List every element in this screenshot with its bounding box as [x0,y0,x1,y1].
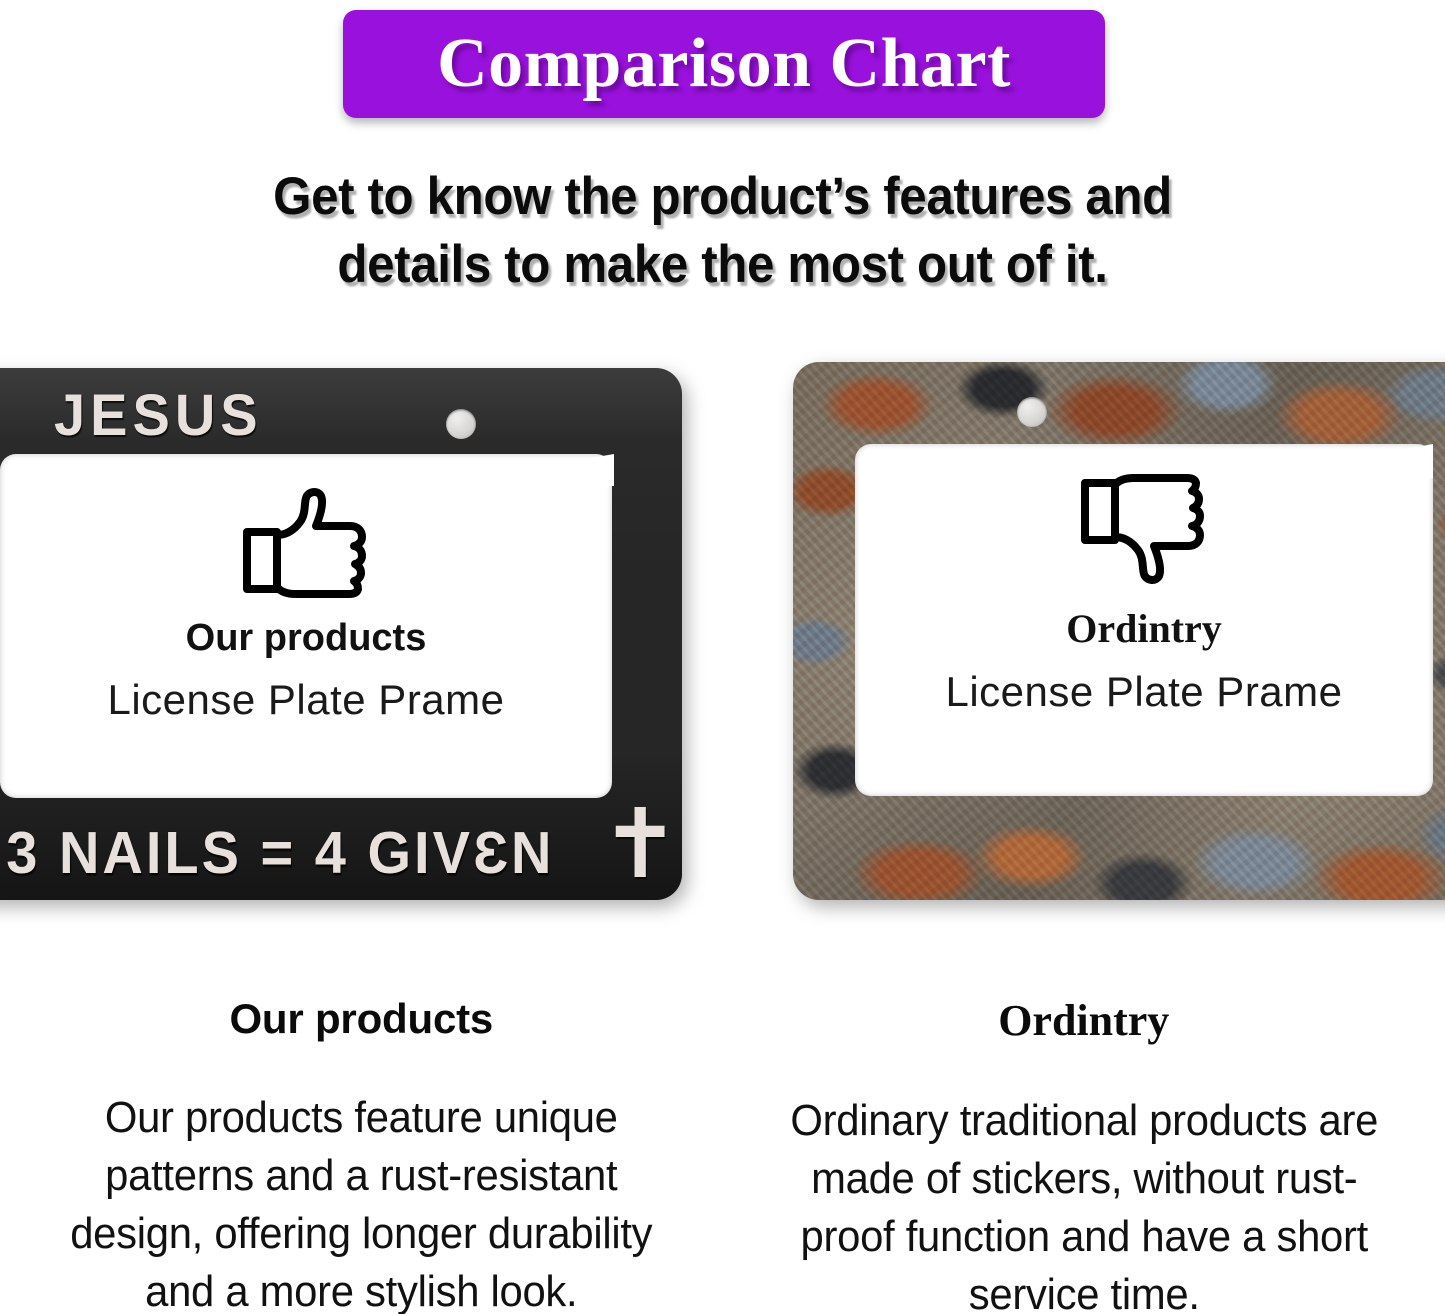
ordinary-product-description-column: Ordintry Ordinary traditional products a… [723,995,1445,1314]
cross-icon: ✝ [600,796,680,892]
plate-top-lettering: JESUS [54,381,263,449]
thumbs-up-icon [240,486,372,603]
our-product-subtitle: License Plate Prame [107,676,504,724]
our-product-window-content: Our products License Plate Prame [0,486,612,724]
ordinary-product-desc-body: Ordinary traditional products are made o… [773,1092,1395,1314]
our-product-desc-body: Our products feature unique patterns and… [50,1089,672,1314]
our-product-name: Our products [186,617,427,660]
descriptions-row: Our products Our products feature unique… [0,995,1445,1314]
plate-bottom-lettering: + 3 NAILS = 4 GIVƐN [0,818,554,887]
ordinary-product-name: Ordintry [1066,605,1222,652]
ordinary-product-plate-frame: Ordintry License Plate Prame [793,362,1445,900]
screw-hole-icon [1017,397,1047,427]
comparison-chart-page: Comparison Chart Get to know the product… [0,0,1445,1314]
our-product-description-column: Our products Our products feature unique… [0,995,723,1314]
screw-hole-icon [446,409,476,439]
ordinary-product-desc-heading: Ordintry [757,995,1412,1046]
our-product-desc-heading: Our products [34,995,689,1043]
ordinary-product-subtitle: License Plate Prame [945,668,1342,716]
ordinary-product-window-content: Ordintry License Plate Prame [855,474,1433,716]
our-product-plate-frame: JESUS + 3 NAILS = 4 GIVƐN ✝ Our products… [0,368,682,900]
thumbs-down-icon [1078,474,1210,591]
